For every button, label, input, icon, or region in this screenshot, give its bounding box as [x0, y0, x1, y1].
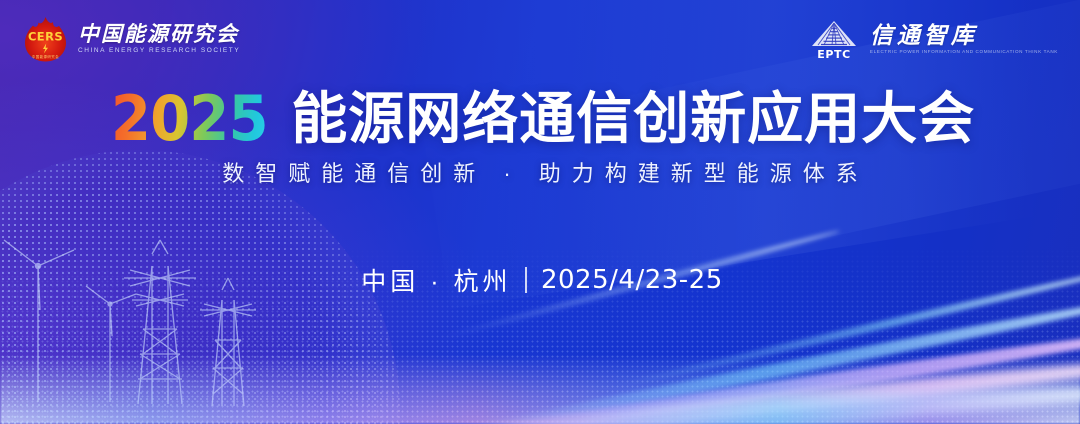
- headline-title: 能源网络通信创新应用大会: [291, 91, 975, 147]
- cers-flame-emblem-icon: CERS 中国能源研究会: [22, 16, 69, 63]
- event-location: 中国 · 杭州: [357, 262, 511, 298]
- event-date: 2025/4/23-25: [541, 265, 723, 295]
- svg-text:EPTC: EPTC: [817, 48, 851, 60]
- subtitle: 数智赋能通信创新 · 助力构建新型能源体系: [0, 163, 1080, 185]
- bottom-glow-band: [0, 354, 1080, 424]
- logo-left-text: 中国能源研究会 CHINA ENERGY RESEARCH SOCIETY: [78, 24, 240, 55]
- light-streak: [373, 352, 1080, 424]
- conference-banner: CERS 中国能源研究会 中国能源研究会 CHINA ENERGY RESEAR…: [0, 0, 1080, 424]
- eptc-mountain-emblem-icon: EPTC: [808, 18, 860, 60]
- logo-left-name-en: CHINA ENERGY RESEARCH SOCIETY: [78, 48, 240, 55]
- headline: 2025 能源网络通信创新应用大会: [0, 88, 1080, 150]
- event-meta: 中国 · 杭州 2025/4/23-25: [0, 262, 1080, 298]
- logo-right-text: 信通智库 ELECTRIC POWER INFORMATION AND COMM…: [870, 24, 1058, 55]
- logo-right-name-en: ELECTRIC POWER INFORMATION AND COMMUNICA…: [870, 50, 1058, 55]
- light-streak: [452, 293, 1080, 424]
- svg-text:CERS: CERS: [28, 30, 63, 44]
- meta-divider: [525, 267, 527, 293]
- logo-eptc-think-tank: EPTC 信通智库 ELECTRIC POWER INFORMATION AND…: [808, 18, 1058, 60]
- svg-text:中国能源研究会: 中国能源研究会: [32, 54, 59, 59]
- logo-left-name-cn: 中国能源研究会: [78, 24, 240, 45]
- logo-china-energy-research-society: CERS 中国能源研究会 中国能源研究会 CHINA ENERGY RESEAR…: [22, 16, 240, 63]
- light-streak: [421, 378, 1080, 424]
- logo-right-name-cn: 信通智库: [870, 24, 1058, 47]
- background-decoration: [0, 0, 1080, 424]
- headline-year: 2025: [111, 88, 268, 150]
- light-streak: [407, 324, 1080, 424]
